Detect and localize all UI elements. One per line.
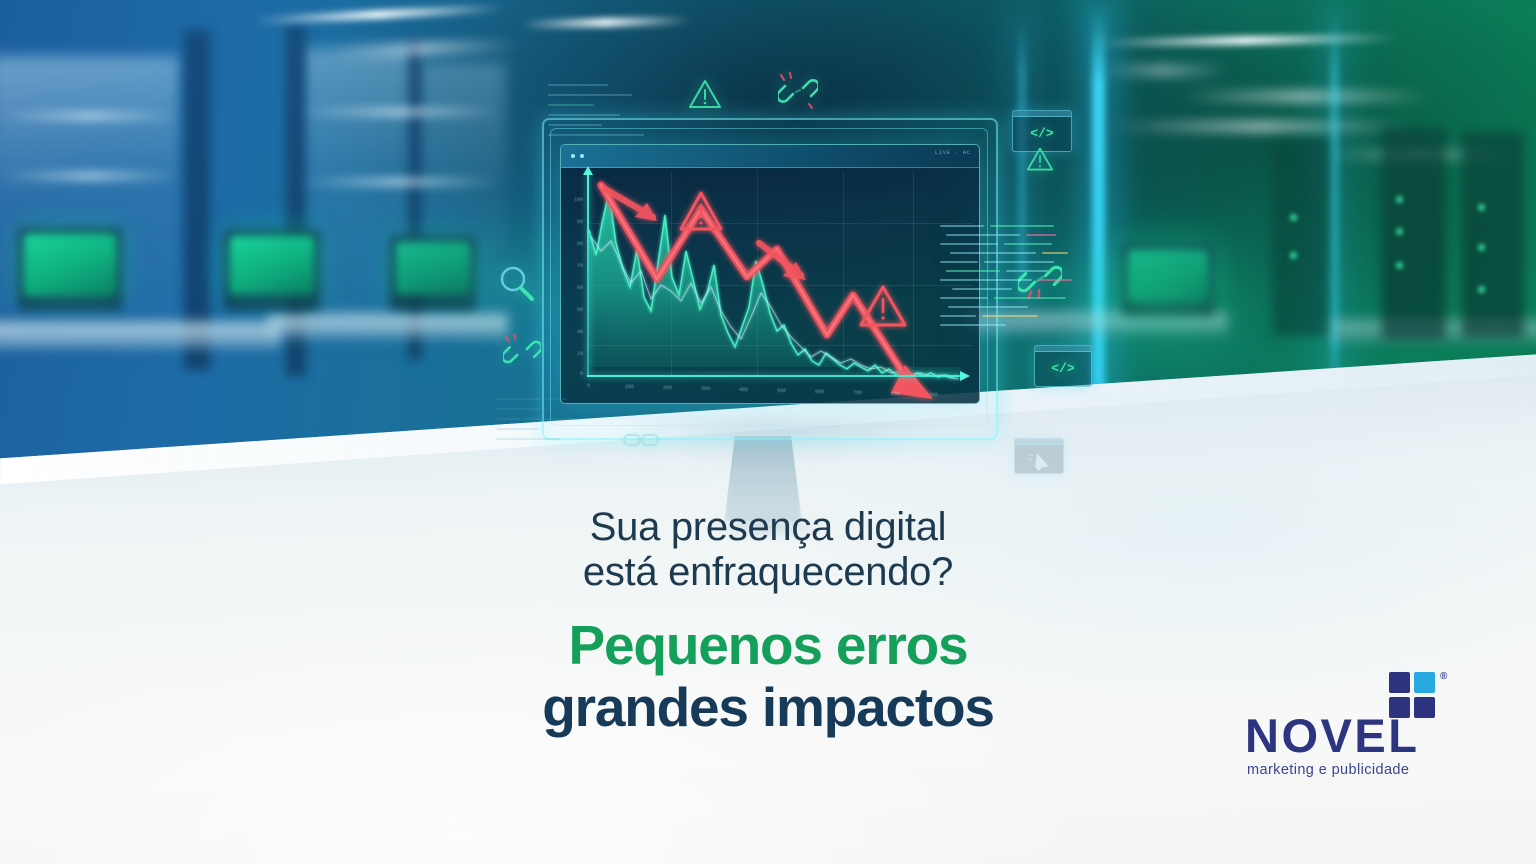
code-log-line <box>984 261 1054 263</box>
background-monitor-screen <box>230 236 314 294</box>
logo-square-top-right <box>1414 672 1435 693</box>
code-log-line <box>982 315 1038 317</box>
code-log-line <box>940 324 1006 326</box>
code-log-line <box>548 134 644 136</box>
code-log-line <box>990 225 1054 227</box>
code-log-line <box>946 270 1000 272</box>
code-log-line <box>496 398 566 400</box>
chart-x-tick: 100 <box>625 384 634 390</box>
cursor-arrow-icon <box>1025 449 1055 471</box>
warning-triangle-icon <box>688 78 722 110</box>
chart-x-tick: 700 <box>853 390 862 396</box>
code-log-line <box>940 243 998 245</box>
chart-x-tick: 600 <box>815 389 824 395</box>
code-log-line <box>548 104 594 106</box>
code-log-column <box>940 225 1100 335</box>
code-log-line <box>940 279 1032 281</box>
broken-link-icon <box>620 426 662 454</box>
code-log-line <box>940 315 976 317</box>
ceiling-light-tube <box>1098 66 1228 75</box>
chart-y-tick: 70 <box>563 263 583 269</box>
server-status-led <box>1396 262 1403 269</box>
kicker-line-1: Sua presença digital <box>0 505 1536 550</box>
code-log-column <box>496 398 616 458</box>
server-status-led <box>1396 228 1403 235</box>
server-status-led <box>1290 252 1297 259</box>
brand-logo[interactable]: ® NOVEL marketing e publicidade <box>1237 668 1467 786</box>
code-log-line <box>948 306 1028 308</box>
code-log-line <box>496 438 560 440</box>
window-shelf-line <box>0 112 180 120</box>
background-monitor-screen <box>24 234 116 296</box>
code-log-line <box>1004 243 1052 245</box>
chart-x-axis <box>587 375 961 377</box>
chart-x-tick: 200 <box>663 385 672 391</box>
code-log-line <box>548 114 620 116</box>
server-rack <box>1382 128 1446 340</box>
browser-cursor-icon <box>1014 438 1064 474</box>
neon-light-strip <box>1330 4 1339 414</box>
code-log-line <box>946 234 1020 236</box>
code-window-icon: </> <box>1034 345 1092 387</box>
browser-titlebar <box>1015 439 1063 445</box>
code-log-line <box>1026 234 1056 236</box>
code-log-line <box>548 84 608 86</box>
server-status-led <box>1478 204 1485 211</box>
broken-link-icon <box>503 334 541 370</box>
chart-x-tick: 500 <box>777 388 786 394</box>
chart-x-tick: 300 <box>701 386 710 392</box>
chart-y-tick: 40 <box>563 329 583 335</box>
window-shelf-line <box>300 108 500 116</box>
broken-link-icon <box>778 72 818 110</box>
server-status-led <box>1290 214 1297 221</box>
registered-trademark-mark: ® <box>1440 671 1447 682</box>
code-log-line <box>940 261 978 263</box>
background-desk <box>0 322 280 348</box>
window-shelf-line <box>0 172 180 180</box>
server-status-led <box>1478 244 1485 251</box>
chart-y-tick: 50 <box>563 307 583 313</box>
kicker-line-2: está enfraquecendo? <box>0 550 1536 595</box>
code-log-line <box>496 418 580 420</box>
code-log-line <box>496 428 538 430</box>
window-pane <box>0 56 180 356</box>
ceiling-light-tube <box>1110 122 1410 131</box>
chart-y-tick: 0 <box>563 371 583 377</box>
code-log-line <box>496 408 546 410</box>
chart-x-tick: 800 <box>891 391 900 397</box>
chart-x-tick: 900 <box>929 392 938 398</box>
code-log-line <box>548 124 602 126</box>
emphasis-green: Pequenos erros <box>0 617 1536 675</box>
chart-screen: LIVE · AC <box>560 144 980 404</box>
code-log-line <box>952 288 1012 290</box>
code-log-line <box>994 297 1066 299</box>
code-log-column <box>548 84 678 156</box>
code-log-line <box>950 252 1036 254</box>
logo-wordmark: NOVEL <box>1245 712 1419 759</box>
window-mullion <box>184 30 210 370</box>
chart-y-tick: 60 <box>563 285 583 291</box>
chart-y-tick: 80 <box>563 241 583 247</box>
code-log-line <box>1006 270 1048 272</box>
hud-status-badge: LIVE · AC <box>935 150 971 156</box>
code-symbol: </> <box>1035 346 1091 386</box>
ceiling-light-tube <box>1180 92 1430 101</box>
code-symbol: </> <box>1013 111 1071 151</box>
chart-area-series <box>589 191 961 377</box>
code-log-line <box>940 297 988 299</box>
chart-y-tick: 90 <box>563 219 583 225</box>
code-log-line <box>548 94 632 96</box>
logo-tagline: marketing e publicidade <box>1247 763 1409 778</box>
code-log-line <box>1042 252 1068 254</box>
code-log-line <box>1038 279 1072 281</box>
chart-plot-area: 100 90 80 70 60 50 40 20 0 0 100 200 300… <box>561 167 979 403</box>
window-shelf-line <box>300 178 500 186</box>
chart-x-tick: 0 <box>587 383 590 389</box>
logo-square-top-left <box>1389 672 1410 693</box>
warning-triangle-icon <box>1026 146 1054 172</box>
chart-x-tick: 400 <box>739 387 748 393</box>
chart-y-tick: 20 <box>563 351 583 357</box>
chart-y-axis <box>587 173 589 377</box>
window-mullion <box>408 40 422 360</box>
chart-series-svg <box>561 167 979 403</box>
server-status-led <box>1396 196 1403 203</box>
server-status-led <box>1478 286 1485 293</box>
search-magnifier-icon <box>497 264 537 304</box>
server-rack <box>1462 132 1524 338</box>
server-rack <box>1272 140 1328 336</box>
promo-banner: LIVE · AC <box>0 0 1536 864</box>
code-log-line <box>940 225 984 227</box>
chart-y-tick: 100 <box>563 197 583 203</box>
